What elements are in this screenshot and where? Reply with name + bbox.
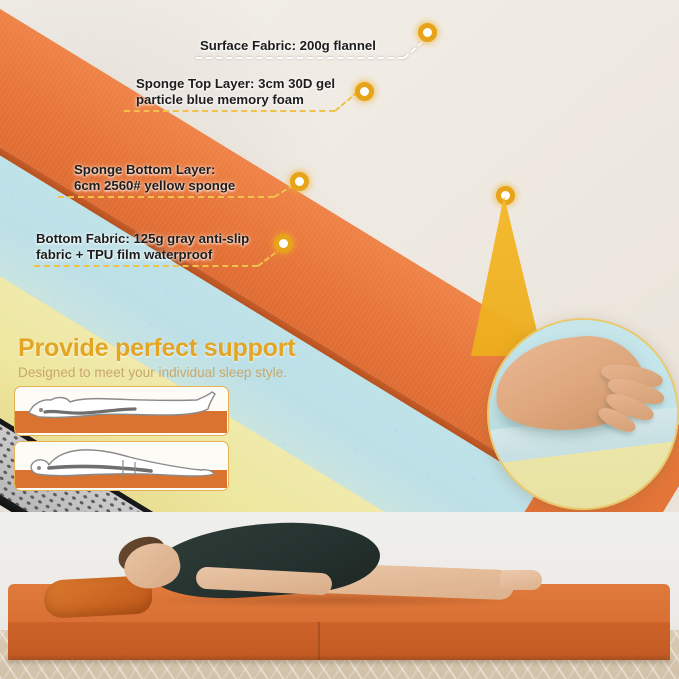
side-sleeping-illustration <box>15 442 227 488</box>
callout-sponge-bottom-line1: Sponge Bottom Layer: <box>74 162 235 178</box>
callout-sponge-bottom-line2: 6cm 2560# yellow sponge <box>74 178 235 194</box>
foam-closeup-circle <box>487 318 679 510</box>
sleep-pose-diagrams <box>14 386 229 496</box>
person-foot <box>500 570 542 590</box>
leader-line-sponge-top <box>124 110 335 112</box>
marker-sponge-bottom[interactable] <box>290 172 309 191</box>
marker-bottom-fabric[interactable] <box>274 234 293 253</box>
callout-sponge-top-line1: Sponge Top Layer: 3cm 30D gel <box>136 76 335 92</box>
support-headline-block: Provide perfect support Designed to meet… <box>18 334 318 380</box>
leader-line-bottom-fabric <box>34 265 258 267</box>
callout-sponge-top: Sponge Top Layer: 3cm 30D gel particle b… <box>136 76 335 108</box>
product-infographic: Surface Fabric: 200g flannel Sponge Top … <box>0 0 679 679</box>
back-sleeping-pose <box>14 386 229 436</box>
callout-sponge-bottom: Sponge Bottom Layer: 6cm 2560# yellow sp… <box>74 162 235 194</box>
mattress-fold-seam <box>318 622 320 660</box>
leader-line-surface-fabric <box>196 57 404 59</box>
back-sleeping-illustration <box>15 387 227 433</box>
callout-bottom-fabric: Bottom Fabric: 125g gray anti-slip fabri… <box>36 231 249 263</box>
side-sleeping-pose <box>14 441 229 491</box>
callout-sponge-top-line2: particle blue memory foam <box>136 92 335 108</box>
callout-bottom-fabric-line2: fabric + TPU film waterproof <box>36 247 249 263</box>
callout-surface-fabric: Surface Fabric: 200g flannel <box>200 38 376 54</box>
mattress-front-face <box>8 622 670 660</box>
marker-foam-closeup[interactable] <box>496 186 515 205</box>
marker-surface-fabric[interactable] <box>418 23 437 42</box>
cross-section-scene: Surface Fabric: 200g flannel Sponge Top … <box>0 0 679 512</box>
mattress-floor-shadow <box>8 658 670 665</box>
lifestyle-scene <box>0 512 679 679</box>
callout-bottom-fabric-line1: Bottom Fabric: 125g gray anti-slip <box>36 231 249 247</box>
support-subheading: Designed to meet your individual sleep s… <box>18 365 318 380</box>
marker-sponge-top[interactable] <box>355 82 374 101</box>
leader-line-sponge-bottom <box>58 196 274 198</box>
support-heading: Provide perfect support <box>18 334 318 363</box>
